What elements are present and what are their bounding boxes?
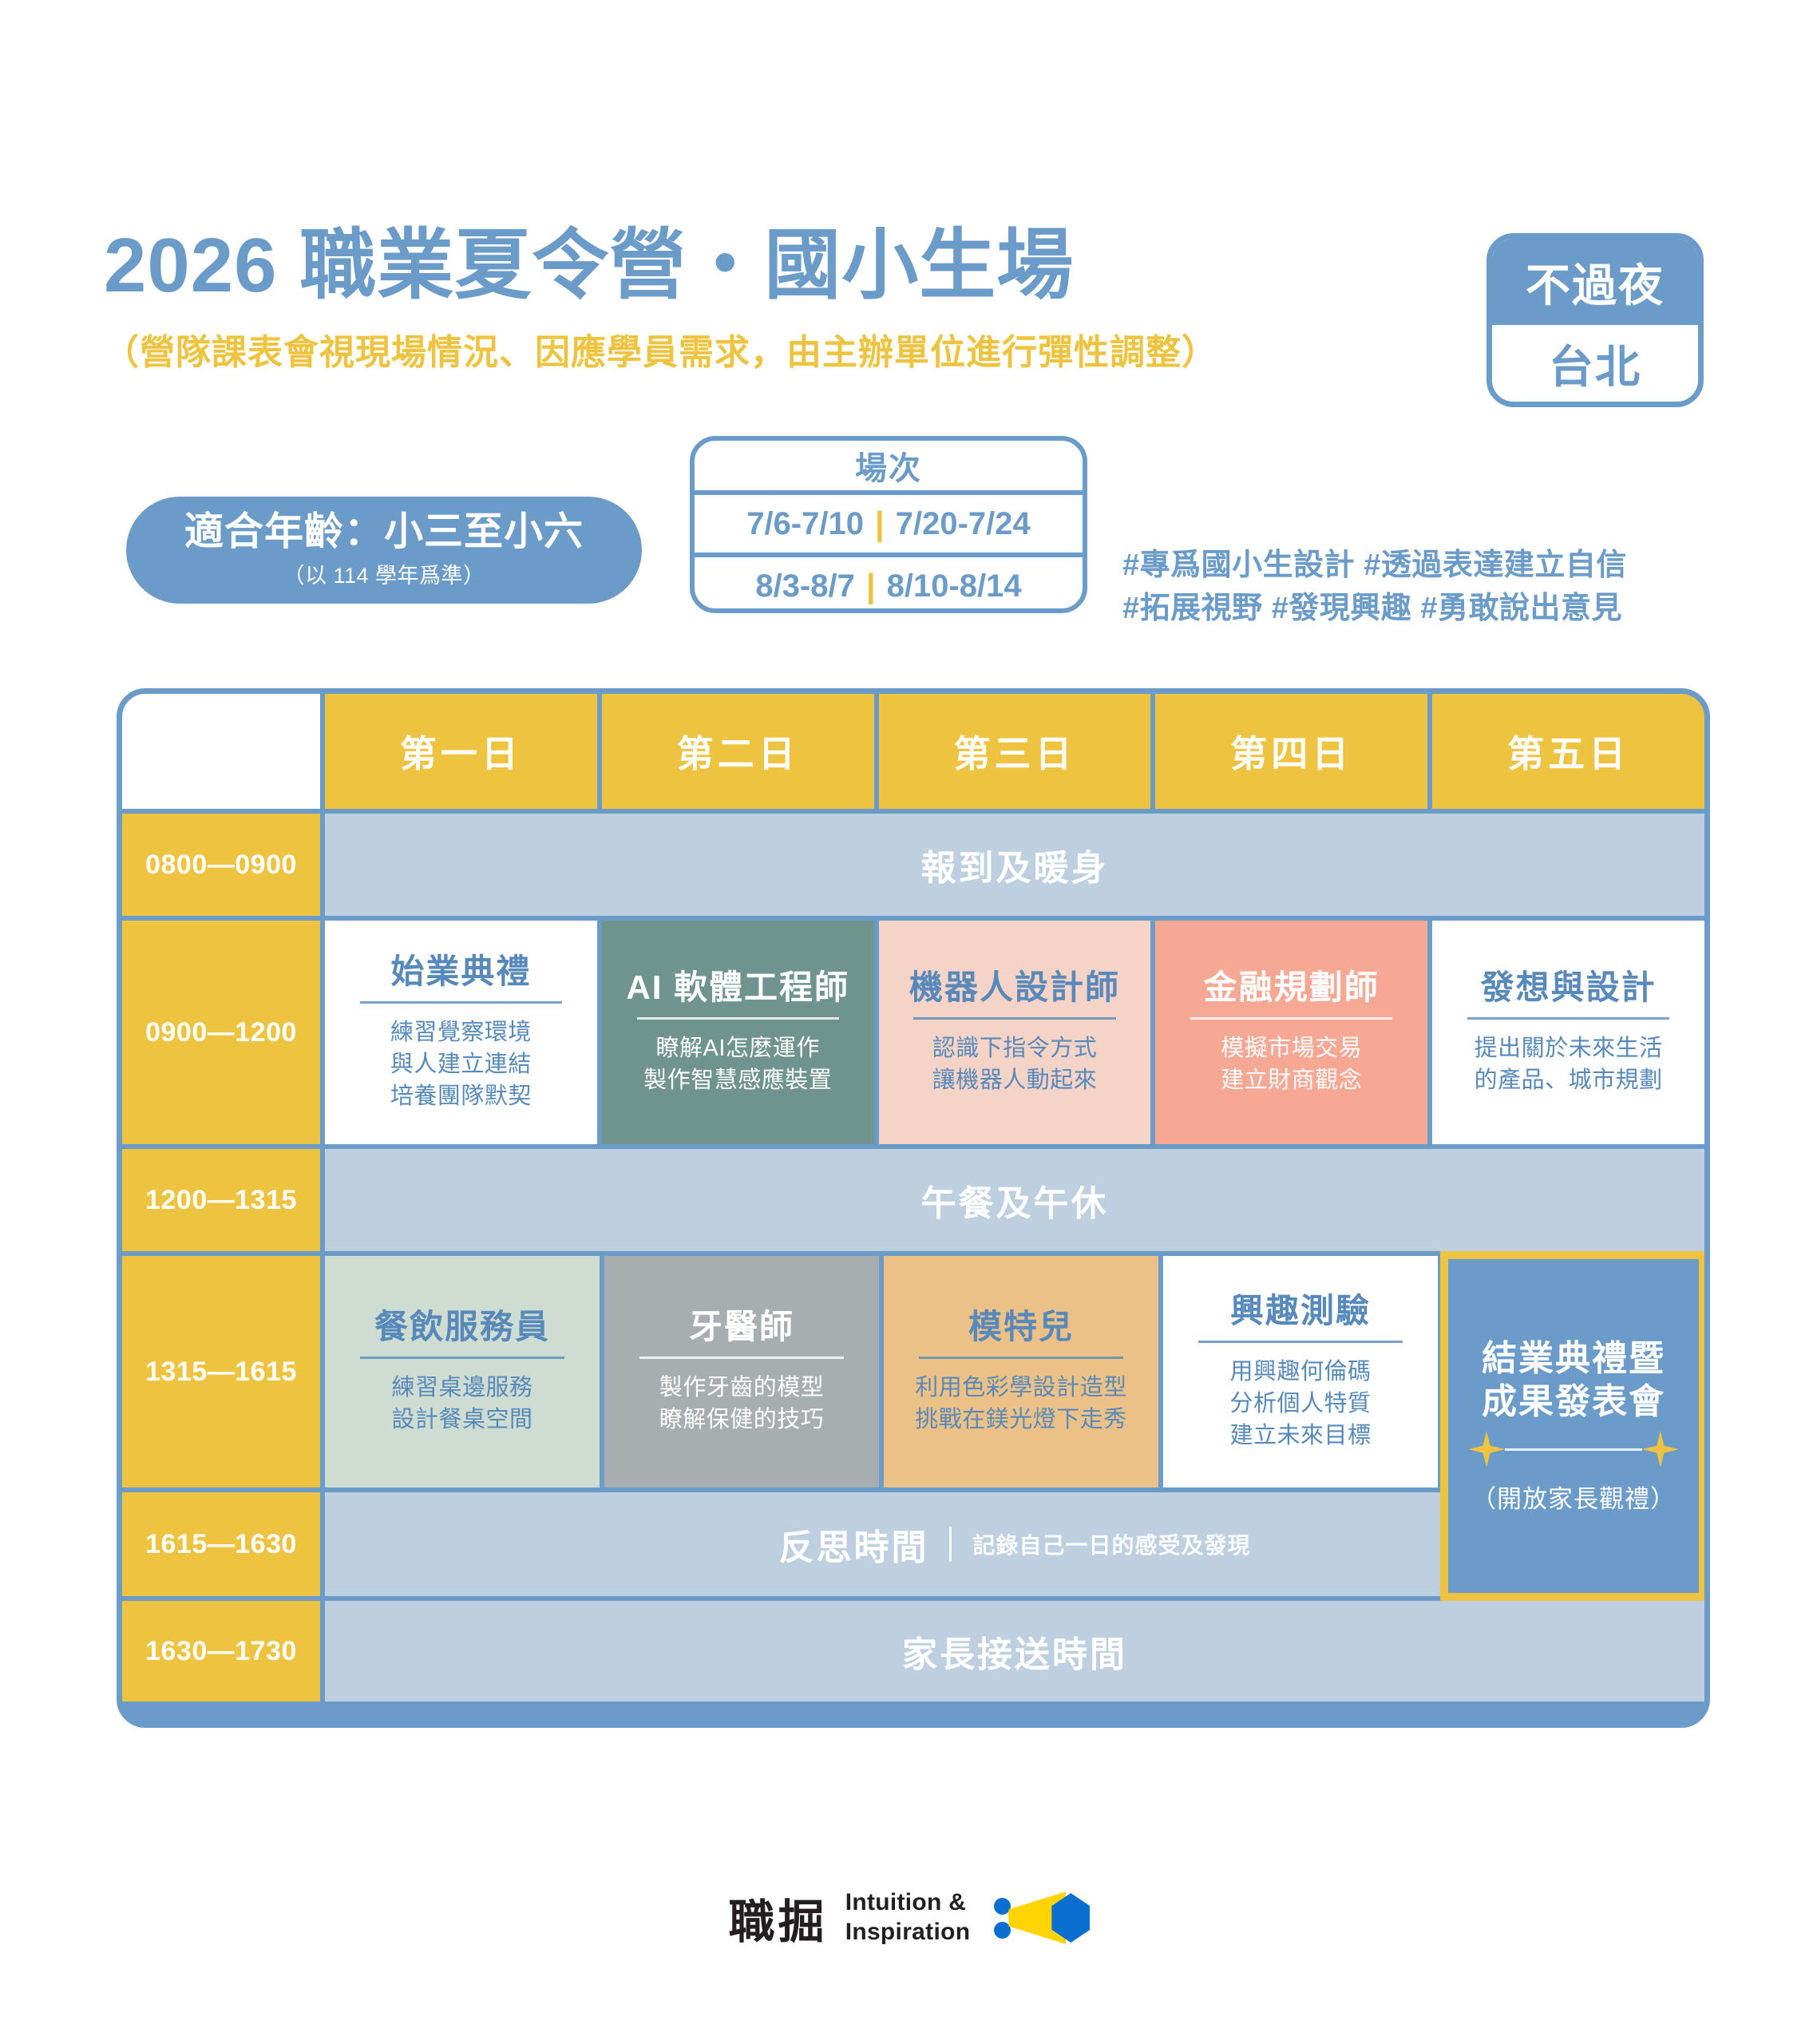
session-title: 模特兒 [968,1308,1074,1354]
footer-logo: 職掘 Intuition & Inspiration [0,1884,1817,1951]
session-date-row: 7/6-7/10 | 7/20-7/24 [695,495,1083,557]
hashtag-line-1: #專爲國小生設計 #透過表達建立自信 [1122,545,1713,588]
header: 2026 職業夏令營・國小生場 （營隊課表會視現場情況、因應學員需求，由主辦單位… [104,228,1669,374]
session-date-1: 7/6-7/10 [746,506,864,542]
session-description: 練習覺察環境與人建立連結培養團隊默契 [390,1016,532,1112]
session-description: 模擬市場交易建立財商觀念 [1221,1032,1362,1096]
time-label-checkin: 0800—0900 [122,814,320,916]
badge-no-overnight-label: 不過夜 [1492,239,1698,325]
logo-english-name: Intuition & Inspiration [845,1888,971,1947]
poster-root: 2026 職業夏令營・國小生場 （營隊課表會視現場情況、因應學員需求，由主辦單位… [0,0,1817,2044]
session-description: 認識下指令方式讓機器人動起來 [932,1032,1098,1096]
page-subtitle: （營隊課表會視現場情況、因應學員需求，由主辦單位進行彈性調整） [104,323,1669,374]
logo-dot-icon [994,1922,1011,1939]
session-divider [639,1357,844,1359]
hashtag-list: #專爲國小生設計 #透過表達建立自信 #拓展視野 #發現興趣 #勇敢說出意見 [1122,545,1713,631]
ceremony-subtitle: （開放家長觀禮） [1471,1479,1676,1515]
schedule-row-morning: 0900—1200 始業典禮 練習覺察環境與人建立連結培養團隊默契 AI 軟體工… [122,921,1704,1144]
hashtag-line-2: #拓展視野 #發現興趣 #勇敢說出意見 [1122,588,1713,631]
session-title: 發想與設計 [1481,969,1657,1015]
session-title: 始業典禮 [390,953,531,999]
band-checkin: 報到及暖身 [325,814,1704,916]
schedule-row-pickup: 1630—1730 家長接送時間 [122,1601,1704,1701]
reflection-title: 反思時間 [778,1519,928,1570]
ceremony-divider [1505,1448,1642,1451]
session-card-afternoon-2[interactable]: 牙醫師 製作牙齒的模型瞭解保健的技巧 [604,1256,879,1487]
time-label-morning: 0900—1200 [122,921,320,1144]
logo-chinese-name: 職掘 [729,1884,828,1951]
session-divider [1467,1017,1669,1020]
schedule-row-lunch: 1200—1315 午餐及午休 [122,1149,1704,1251]
schedule-row-checkin: 0800—0900 報到及暖身 [122,814,1704,916]
session-divider [919,1357,1123,1359]
day-header-5: 第五日 [1432,694,1704,809]
session-card-afternoon-4[interactable]: 興趣測驗 用興趣何倫碼分析個人特質建立未來目標 [1163,1256,1438,1487]
time-label-reflection: 1615—1630 [122,1492,320,1596]
session-title: AI 軟體工程師 [626,969,849,1015]
time-label-lunch: 1200—1315 [122,1149,320,1251]
session-card-morning-4[interactable]: 金融規劃師 模擬市場交易建立財商觀念 [1155,921,1427,1144]
session-title: 牙醫師 [689,1308,794,1354]
session-date-4: 8/10-8/14 [887,568,1022,604]
session-card-morning-3[interactable]: 機器人設計師 認識下指令方式讓機器人動起來 [879,921,1151,1144]
ceremony-divider-row [1468,1431,1679,1468]
age-range-note: （以 114 學年爲準） [283,558,485,589]
session-description: 練習桌邊服務設計餐桌空間 [391,1372,532,1436]
reflection-description: 記錄自己一日的感受及發現 [972,1528,1250,1560]
session-card-morning-2[interactable]: AI 軟體工程師 瞭解AI怎麼運作製作智慧感應裝置 [602,921,874,1144]
session-date-3: 8/3-8/7 [755,568,855,604]
session-dates-heading: 場次 [695,441,1083,495]
time-label-afternoon: 1315—1615 [122,1256,320,1487]
schedule-header-row: 第一日 第二日 第三日 第四日 第五日 [122,694,1704,809]
page-title: 2026 職業夏令營・國小生場 [104,228,1669,304]
session-card-afternoon-1[interactable]: 餐飲服務員 練習桌邊服務設計餐桌空間 [325,1256,600,1487]
session-card-morning-5[interactable]: 發想與設計 提出關於未來生活的產品、城市規劃 [1432,921,1704,1144]
session-title: 餐飲服務員 [374,1308,550,1354]
session-description: 瞭解AI怎麼運作製作智慧感應裝置 [643,1032,832,1096]
age-range-pill: 適合年齡：小三至小六 （以 114 學年爲準） [126,497,642,604]
sparkle-icon-left [1468,1431,1505,1468]
ceremony-cell-slot: 結業典禮暨成果發表會 （開放家長觀禮） [1443,1256,1704,1487]
badge-city-label: 台北 [1492,325,1698,402]
session-divider [360,1357,564,1359]
schedule-table: 第一日 第二日 第三日 第四日 第五日 0800—0900 報到及暖身 0900… [117,688,1710,1728]
day-header-2: 第二日 [602,694,874,809]
session-divider [637,1017,839,1020]
reflection-separator [949,1527,952,1562]
session-title: 機器人設計師 [909,969,1120,1015]
session-description: 提出關於未來生活的產品、城市規劃 [1475,1032,1663,1096]
closing-ceremony-card[interactable]: 結業典禮暨成果發表會 （開放家長觀禮） [1440,1251,1707,1601]
band-pickup: 家長接送時間 [325,1601,1704,1701]
session-divider [360,1001,562,1004]
band-lunch: 午餐及午休 [325,1149,1704,1251]
session-description: 利用色彩學設計造型挑戰在鎂光燈下走秀 [915,1372,1127,1436]
session-date-row: 8/3-8/7 | 8/10-8/14 [695,557,1083,613]
ceremony-title: 結業典禮暨成果發表會 [1482,1337,1665,1423]
session-card-morning-1[interactable]: 始業典禮 練習覺察環境與人建立連結培養團隊默契 [325,921,597,1144]
session-dates-box: 場次 7/6-7/10 | 7/20-7/24 8/3-8/7 | 8/10-8… [690,436,1087,613]
session-title: 金融規劃師 [1204,969,1380,1015]
logo-mark-icon [994,1891,1088,1944]
sparkle-icon-right [1642,1431,1679,1468]
day-header-3: 第三日 [879,694,1151,809]
logo-en-line-2: Inspiration [845,1918,971,1947]
session-date-separator: | [864,505,896,543]
session-date-2: 7/20-7/24 [896,506,1031,542]
session-divider [1190,1017,1392,1020]
session-title: 興趣測驗 [1230,1292,1371,1338]
logo-en-line-1: Intuition & [845,1888,971,1918]
schedule-row-afternoon: 1315—1615 餐飲服務員 練習桌邊服務設計餐桌空間 牙醫師 製作牙齒的模型… [122,1256,1704,1487]
table-corner-cell [122,694,320,809]
age-range-main: 適合年齡：小三至小六 [184,511,584,554]
session-date-separator: | [855,567,887,605]
logo-dot-icon [994,1898,1011,1915]
session-description: 用興趣何倫碼分析個人特質建立未來目標 [1229,1356,1371,1452]
session-card-afternoon-3[interactable]: 模特兒 利用色彩學設計造型挑戰在鎂光燈下走秀 [884,1256,1158,1487]
session-description: 製作牙齒的模型瞭解保健的技巧 [659,1372,825,1436]
session-divider [1198,1341,1403,1343]
time-label-pickup: 1630—1730 [122,1601,320,1701]
day-header-1: 第一日 [325,694,597,809]
day-header-4: 第四日 [1155,694,1427,809]
overnight-location-badge: 不過夜 台北 [1486,233,1704,407]
session-divider [913,1017,1115,1020]
